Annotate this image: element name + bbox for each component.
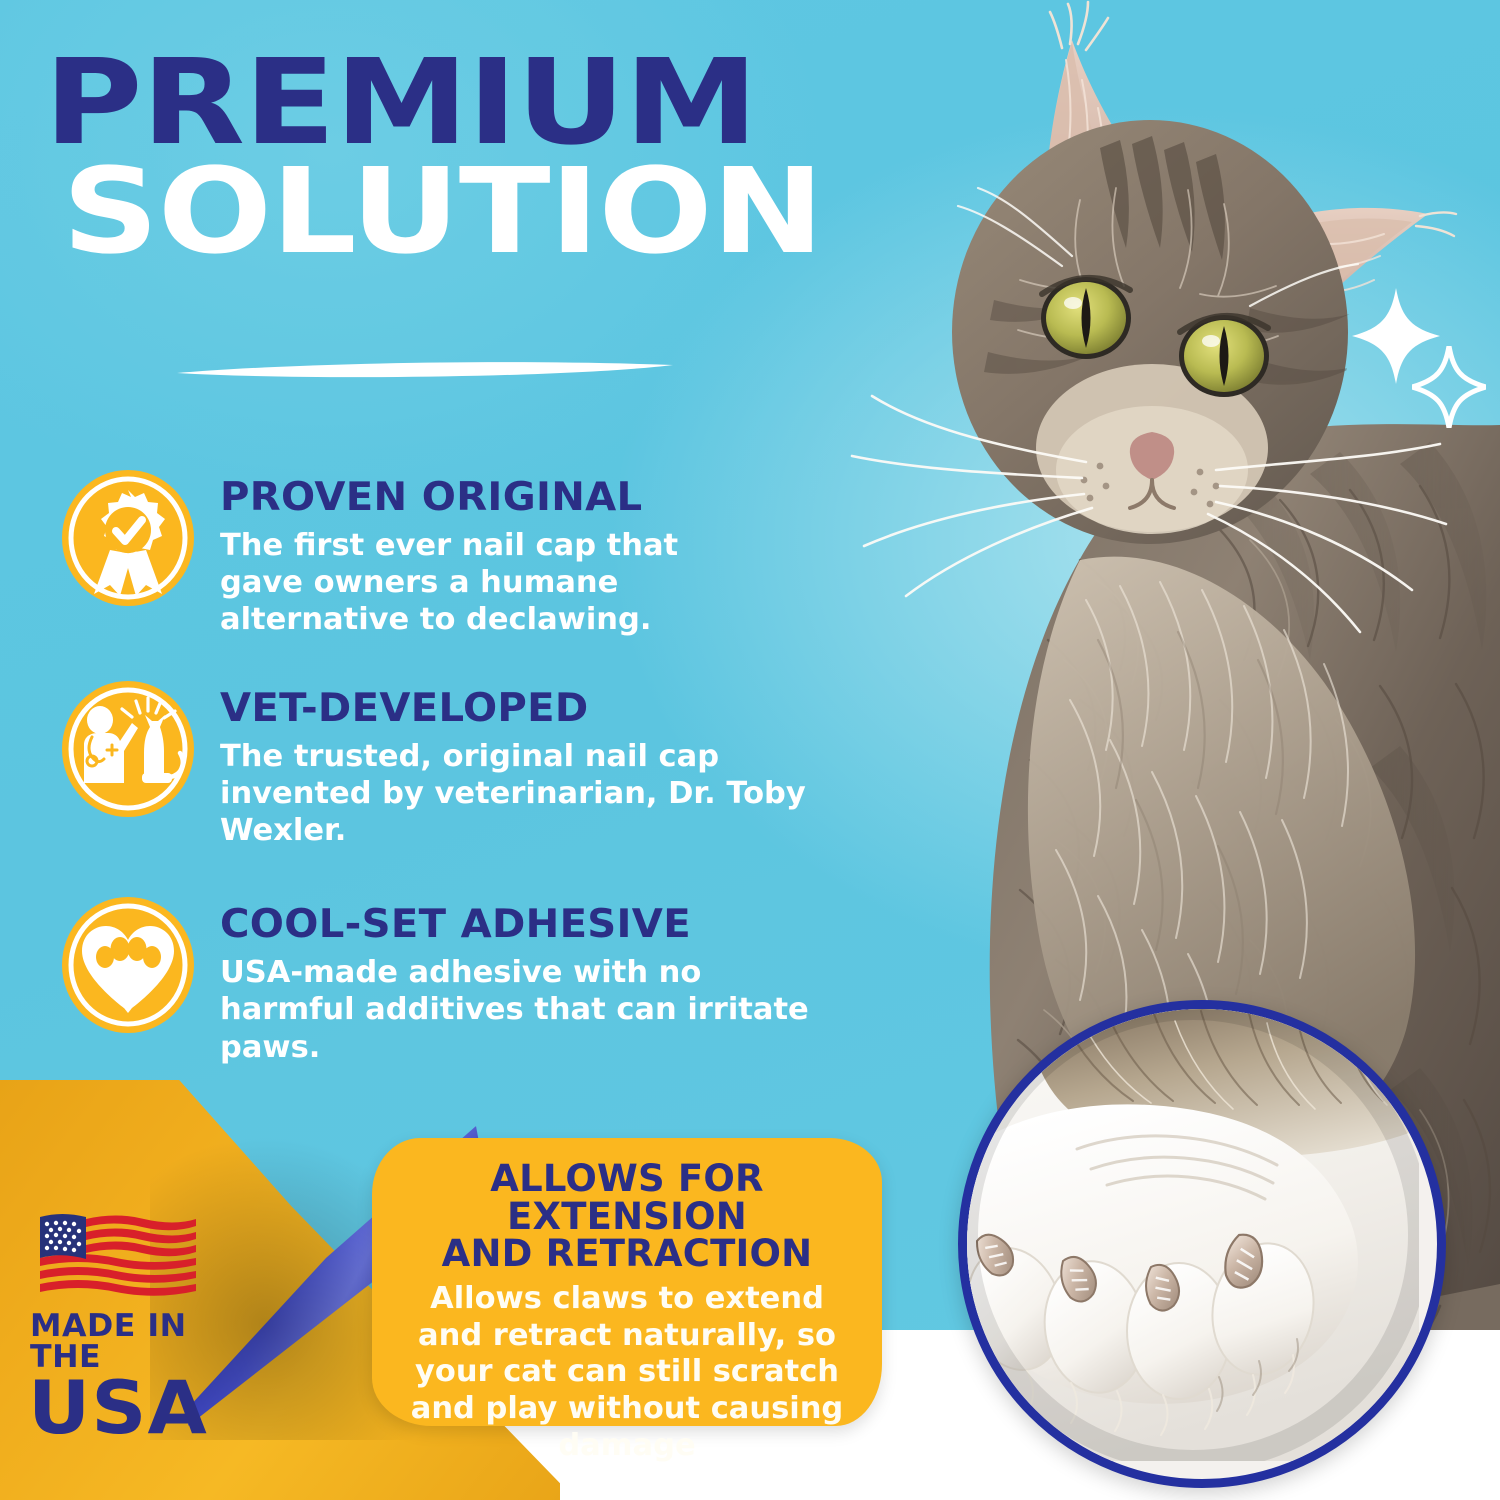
feature-text: The trusted, original nail cap invented … <box>220 738 835 850</box>
headline-line-2: SOLUTION <box>62 161 942 262</box>
vet-high-five-cat-icon <box>58 679 198 819</box>
feature-item-vet-developed: VET-DEVELOPED The trusted, original nail… <box>58 679 848 850</box>
feature-item-proven-original: PROVEN ORIGINAL The first ever nail cap … <box>58 468 848 639</box>
paw-closeup-magnifier <box>958 1000 1446 1488</box>
feature-title: COOL-SET ADHESIVE <box>220 905 838 944</box>
us-flag-icon <box>28 1203 198 1299</box>
feature-title: PROVEN ORIGINAL <box>220 478 756 517</box>
award-rosette-check-icon <box>58 468 198 608</box>
callout-title-line-1: ALLOWS FOR EXTENSION <box>490 1157 763 1238</box>
feature-text: USA-made adhesive with no harmful additi… <box>220 954 820 1066</box>
callout-title-line-2: AND RETRACTION <box>442 1232 813 1275</box>
sparkle-outline-icon <box>1412 346 1486 428</box>
made-in-usa-badge: MADE IN THE USA <box>28 1203 258 1442</box>
feature-title: VET-DEVELOPED <box>220 689 853 728</box>
feature-item-cool-set-adhesive: COOL-SET ADHESIVE USA-made adhesive with… <box>58 895 848 1066</box>
usa-label: USA <box>28 1375 270 1442</box>
headline-block: PREMIUM SOLUTION <box>44 52 834 263</box>
feature-text: The first ever nail cap that gave owners… <box>220 527 740 639</box>
callout-text: Allows claws to extend and retract natur… <box>398 1281 856 1464</box>
headline-line-1: PREMIUM <box>44 52 945 153</box>
product-feature-poster: PREMIUM SOLUTION PROVEN <box>0 0 1500 1500</box>
feature-list: PROVEN ORIGINAL The first ever nail cap … <box>58 468 848 1106</box>
lens-swoosh-divider <box>175 360 675 382</box>
cat-paw-with-nail-caps-photo <box>967 1009 1419 1461</box>
heart-paw-print-icon <box>58 895 198 1035</box>
sparkle-group <box>1352 288 1500 438</box>
callout-title: ALLOWS FOR EXTENSION AND RETRACTION <box>398 1160 856 1273</box>
extension-retraction-callout: ALLOWS FOR EXTENSION AND RETRACTION Allo… <box>372 1138 882 1426</box>
made-in-the-label: MADE IN THE <box>30 1311 263 1373</box>
